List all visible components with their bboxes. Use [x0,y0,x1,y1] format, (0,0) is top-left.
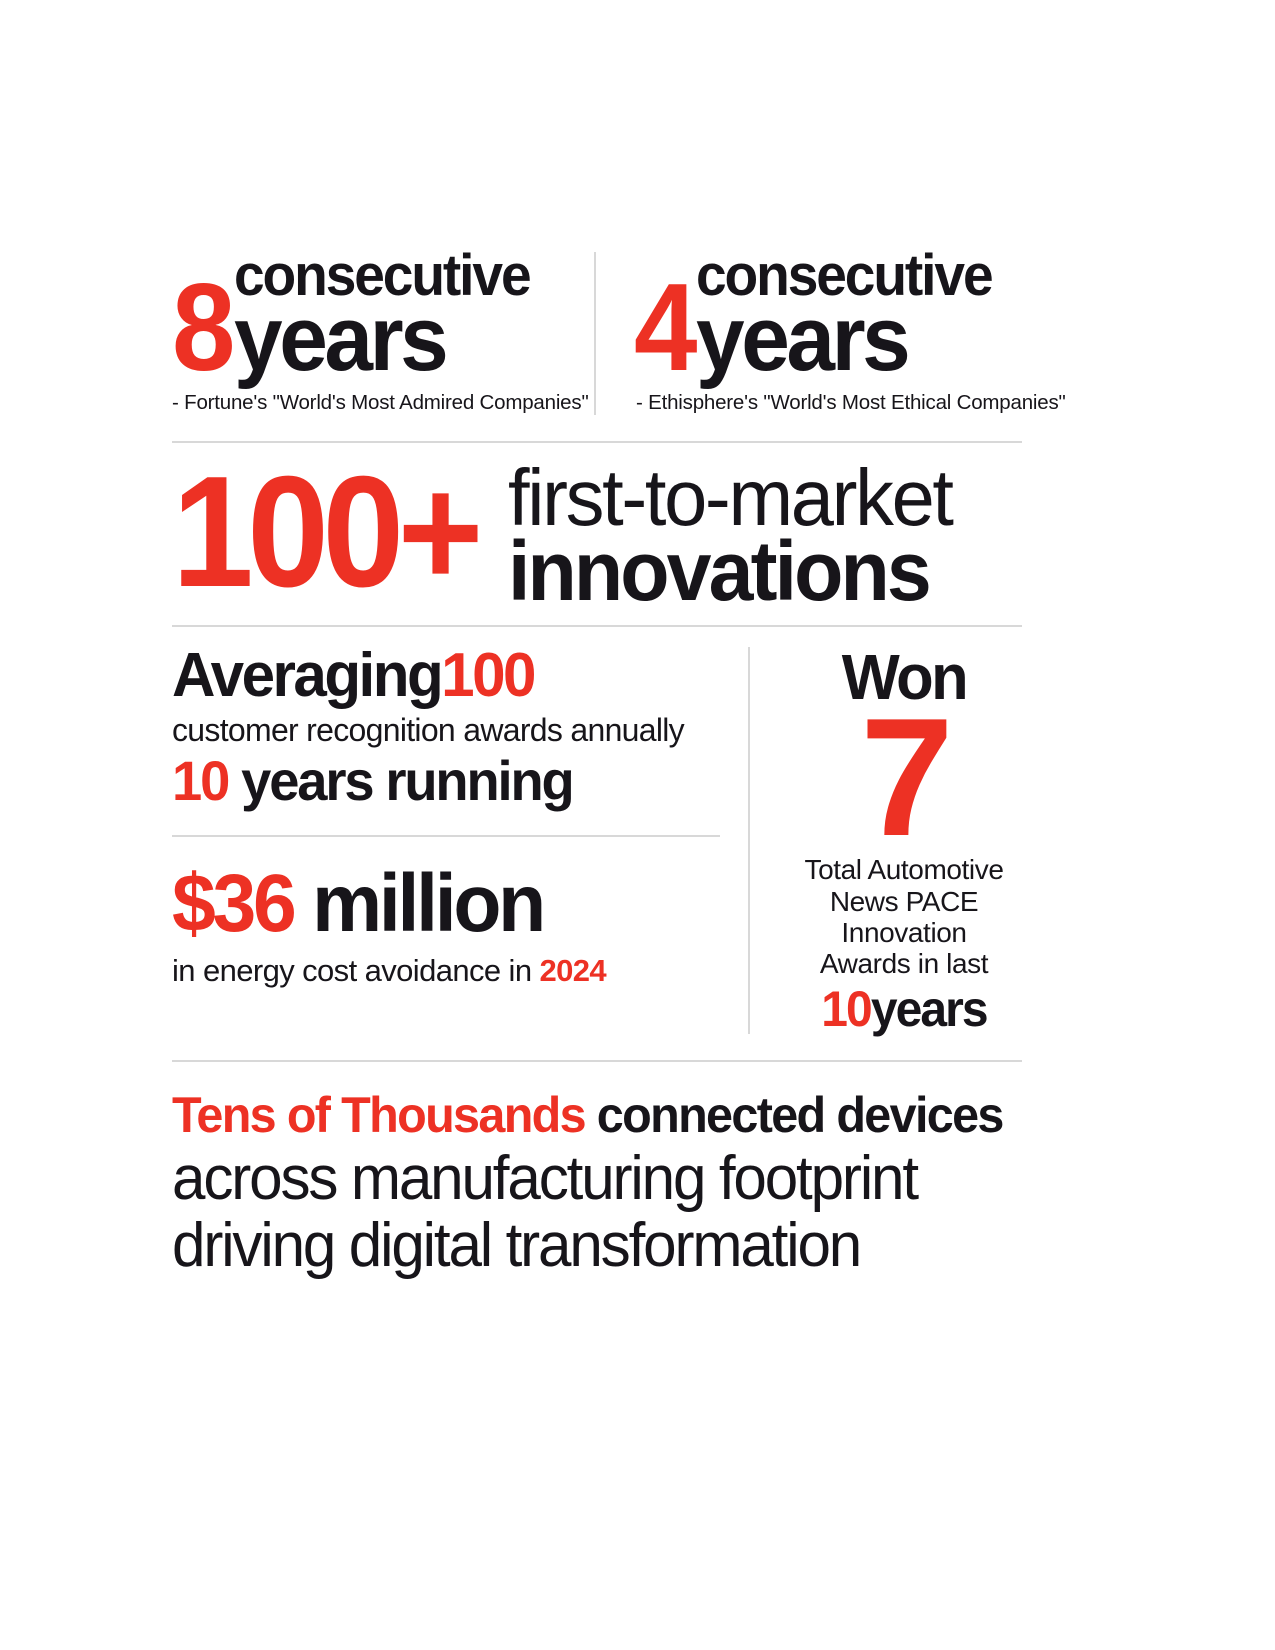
award-card-ethisphere: 4 consecutive years - Ethisphere's "Worl… [596,252,1022,415]
connected-devices-line3: driving digital transformation [172,1213,997,1278]
connected-devices-rest: connected devices [585,1087,1003,1143]
connected-devices-line1: Tens of Thousands connected devices [172,1088,997,1142]
won-caption-line-1: Total Automotive [786,854,1022,885]
averaging-subtitle: customer recognition awards annually [172,712,720,749]
first-to-market-line2: innovations [508,537,947,607]
awards-energy-column: Averaging100 customer recognition awards… [172,647,748,1034]
infographic-canvas: 8 consecutive years - Fortune's "World's… [0,0,1275,1650]
award-headline-ethisphere: 4 consecutive years [634,252,1022,377]
award-words-fortune: consecutive years [234,252,545,377]
award-number-ethisphere: 4 [634,280,693,377]
award-card-fortune: 8 consecutive years - Fortune's "World's… [172,252,594,415]
first-to-market-words: first-to-market innovations [508,465,965,607]
won-label: Won [791,647,1018,708]
won-caption-line-4: Awards in last [786,948,1022,979]
won-years-number: 10 [821,981,871,1037]
first-to-market-line1: first-to-market [508,465,952,531]
averaging-years-text: years running [228,749,572,812]
won-caption: Total Automotive News PACE Innovation Aw… [786,854,1022,979]
connected-devices-block: Tens of Thousands connected devices acro… [172,1088,1022,1278]
award-number-fortune: 8 [172,280,231,377]
middle-row: Averaging100 customer recognition awards… [172,647,1022,1034]
divider-before-bottom [172,1060,1022,1062]
averaging-number: 100 [441,641,534,710]
award-word-years-fortune: years [234,302,530,377]
energy-caption-year: 2024 [540,953,607,988]
award-words-ethisphere: consecutive years [696,252,1007,377]
energy-amount: $36 [172,858,294,949]
won-caption-line-3: Innovation [786,917,1022,948]
energy-caption-prefix: in energy cost avoidance in [172,953,540,988]
energy-caption: in energy cost avoidance in 2024 [172,953,720,989]
won-caption-line-2: News PACE [786,886,1022,917]
award-word-years-ethisphere: years [696,302,992,377]
divider-after-awards [172,441,1022,443]
won-number: 7 [786,710,1022,844]
award-caption-ethisphere: - Ethisphere's "World's Most Ethical Com… [636,391,1022,415]
connected-devices-line2: across manufacturing footprint [172,1146,997,1211]
divider-after-first-to-market [172,625,1022,627]
won-years-text: years [871,981,987,1037]
averaging-headline: Averaging100 [172,647,704,706]
averaging-years-number: 10 [172,749,228,812]
pace-awards-column: Won 7 Total Automotive News PACE Innovat… [750,647,1022,1034]
energy-unit: million [294,858,543,949]
stats-sheet: 8 consecutive years - Fortune's "World's… [172,252,1022,1278]
awards-row: 8 consecutive years - Fortune's "World's… [172,252,1022,415]
first-to-market-row: 100+ first-to-market innovations [172,465,1022,625]
divider-averaging-energy [172,835,720,837]
averaging-label: Averaging [172,641,441,710]
first-to-market-number: 100+ [172,469,477,595]
connected-devices-highlight: Tens of Thousands [172,1087,585,1143]
averaging-years-line: 10 years running [172,753,704,809]
award-headline-fortune: 8 consecutive years [172,252,560,377]
energy-headline: $36 million [172,863,698,945]
won-years-line: 10years [791,984,1018,1034]
